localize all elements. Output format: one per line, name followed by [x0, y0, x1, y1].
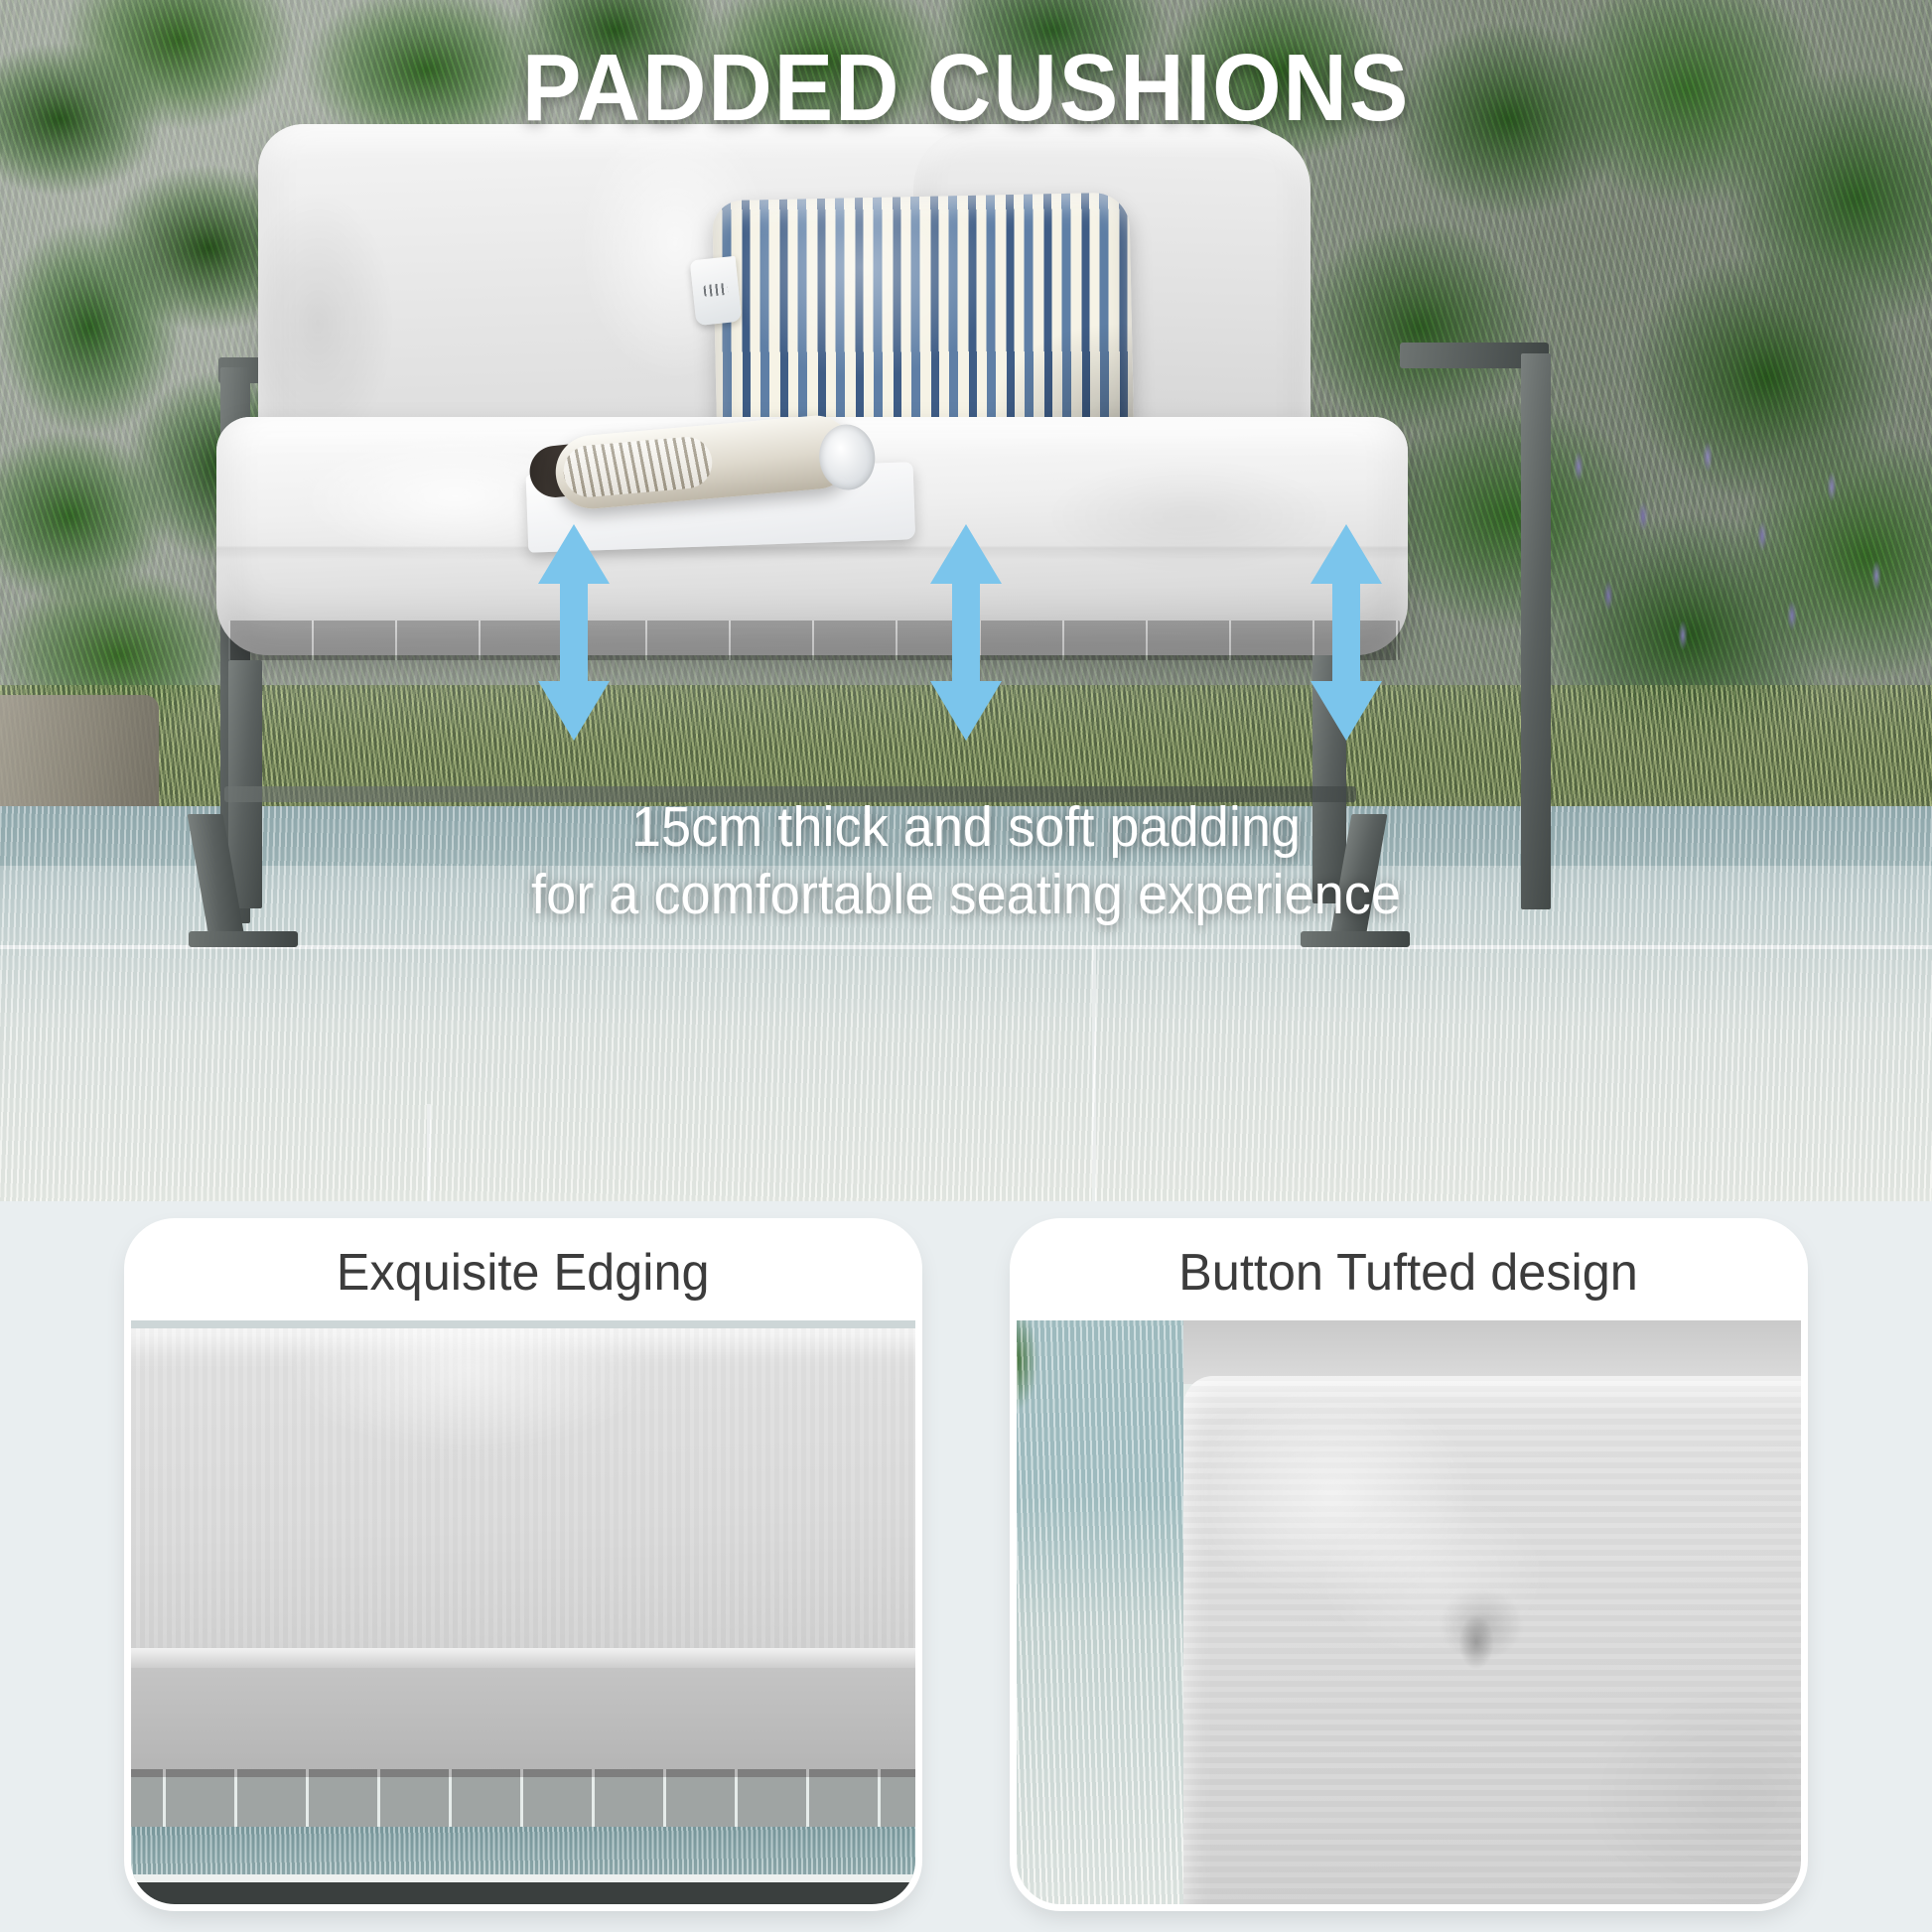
- double-headed-vertical-arrow: [536, 524, 612, 741]
- feature-card-header: Exquisite Edging: [131, 1225, 915, 1320]
- hero-subtitle-line-1: 15cm thick and soft padding: [49, 794, 1884, 862]
- cushion-piped-edge: [131, 1648, 915, 1670]
- double-headed-vertical-arrow: [928, 524, 1004, 741]
- patio-background-strip: [1017, 1320, 1183, 1904]
- cushion-side-panel: [131, 1668, 915, 1777]
- feature-card-image-edging: [131, 1320, 915, 1904]
- feature-card-exquisite-edging: Exquisite Edging: [131, 1225, 915, 1904]
- feature-card-title: Button Tufted design: [1179, 1243, 1639, 1303]
- pillow-fabric-tag: [690, 256, 743, 326]
- frame-lower-bar: [131, 1882, 915, 1904]
- button-tuft-dimple: [1183, 1376, 1801, 1904]
- product-feature-image: PADDED CUSHIONS 15cm thick and soft padd…: [0, 0, 1932, 1932]
- bench-frame-slats: [228, 621, 1400, 660]
- bench-right-base-pad: [1301, 931, 1410, 947]
- hero-subtitle: 15cm thick and soft padding for a comfor…: [49, 794, 1884, 929]
- patio-strip-upper: [131, 1827, 915, 1878]
- feature-card-header: Button Tufted design: [1017, 1225, 1801, 1320]
- double-headed-vertical-arrow: [1309, 524, 1384, 741]
- tufting-closeup-photo: [1017, 1320, 1801, 1904]
- feature-card-title: Exquisite Edging: [337, 1243, 710, 1303]
- hero-scene: PADDED CUSHIONS 15cm thick and soft padd…: [0, 0, 1932, 1201]
- frame-slats-detail: [131, 1769, 915, 1827]
- bench-left-base-pad: [189, 931, 298, 947]
- page-title: PADDED CUSHIONS: [68, 34, 1864, 143]
- edging-closeup-photo: [131, 1320, 915, 1904]
- leaf-accent: [1017, 1320, 1042, 1440]
- feature-card-image-tufting: [1017, 1320, 1801, 1904]
- feature-card-button-tufted: Button Tufted design: [1017, 1225, 1801, 1904]
- feature-card-row: Exquisite Edging Button Tufted design: [0, 1201, 1932, 1932]
- cushion-top-edge: [1183, 1320, 1801, 1384]
- hero-subtitle-line-2: for a comfortable seating experience: [49, 862, 1884, 929]
